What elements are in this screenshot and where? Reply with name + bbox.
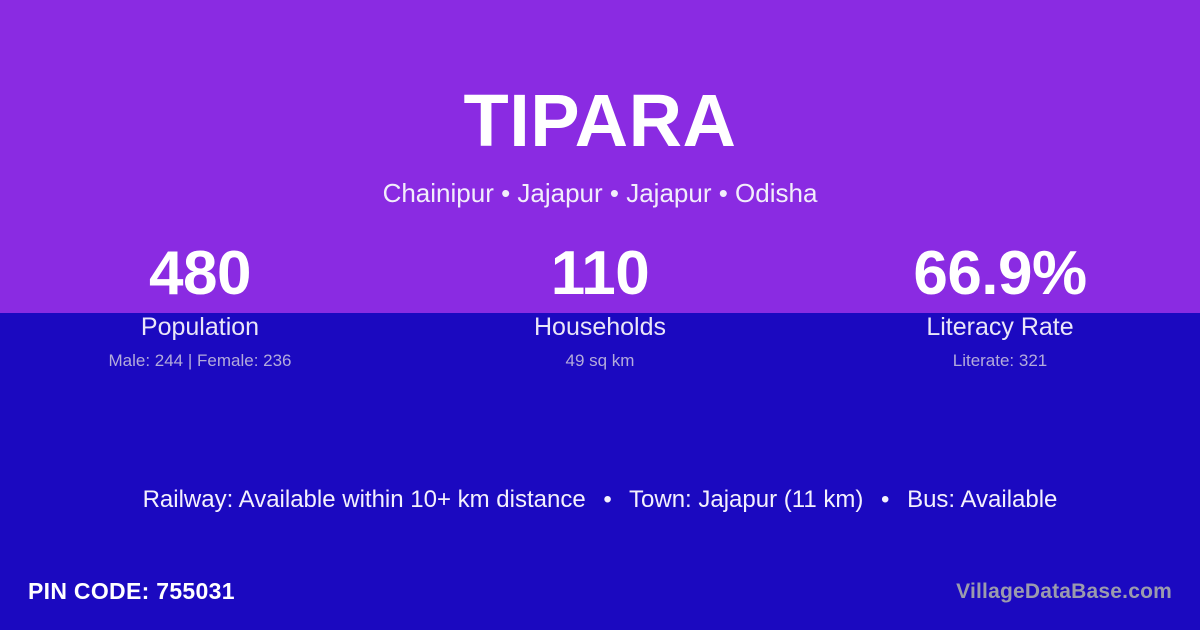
stat-value-population: 480 [0,243,400,305]
stat-literacy: 66.9% Literacy Rate Literate: 321 [800,243,1200,370]
stat-population: 480 Population Male: 244 | Female: 236 [0,243,400,370]
stat-value-households: 110 [400,243,800,305]
stat-label-population: Population [0,314,400,340]
infra-town: Town: Jajapur (11 km) [629,486,863,513]
site-watermark: VillageDataBase.com [956,579,1172,605]
village-info-card: TIPARA Chainipur • Jajapur • Jajapur • O… [0,0,1200,630]
stat-sub-literacy: Literate: 321 [800,352,1200,370]
pin-code: PIN CODE: 755031 [28,578,235,604]
stats-row: 480 Population Male: 244 | Female: 236 1… [0,243,1200,370]
footer: PIN CODE: 755031 VillageDataBase.com [0,570,1200,630]
stat-households: 110 Households 49 sq km [400,243,800,370]
stat-value-literacy: 66.9% [800,243,1200,305]
stat-sub-population: Male: 244 | Female: 236 [0,352,400,370]
page-title: TIPARA [0,0,1200,158]
breadcrumb: Chainipur • Jajapur • Jajapur • Odisha [0,158,1200,206]
title-block: TIPARA Chainipur • Jajapur • Jajapur • O… [0,0,1200,206]
infrastructure-row: Railway: Available within 10+ km distanc… [0,485,1200,515]
infra-railway: Railway: Available within 10+ km distanc… [143,486,586,513]
stat-label-literacy: Literacy Rate [800,314,1200,340]
infra-bus: Bus: Available [907,486,1057,513]
stat-label-households: Households [400,314,800,340]
stat-sub-households: 49 sq km [400,352,800,370]
infra-separator-dot: • [592,486,622,513]
infra-separator-dot: • [870,486,900,513]
